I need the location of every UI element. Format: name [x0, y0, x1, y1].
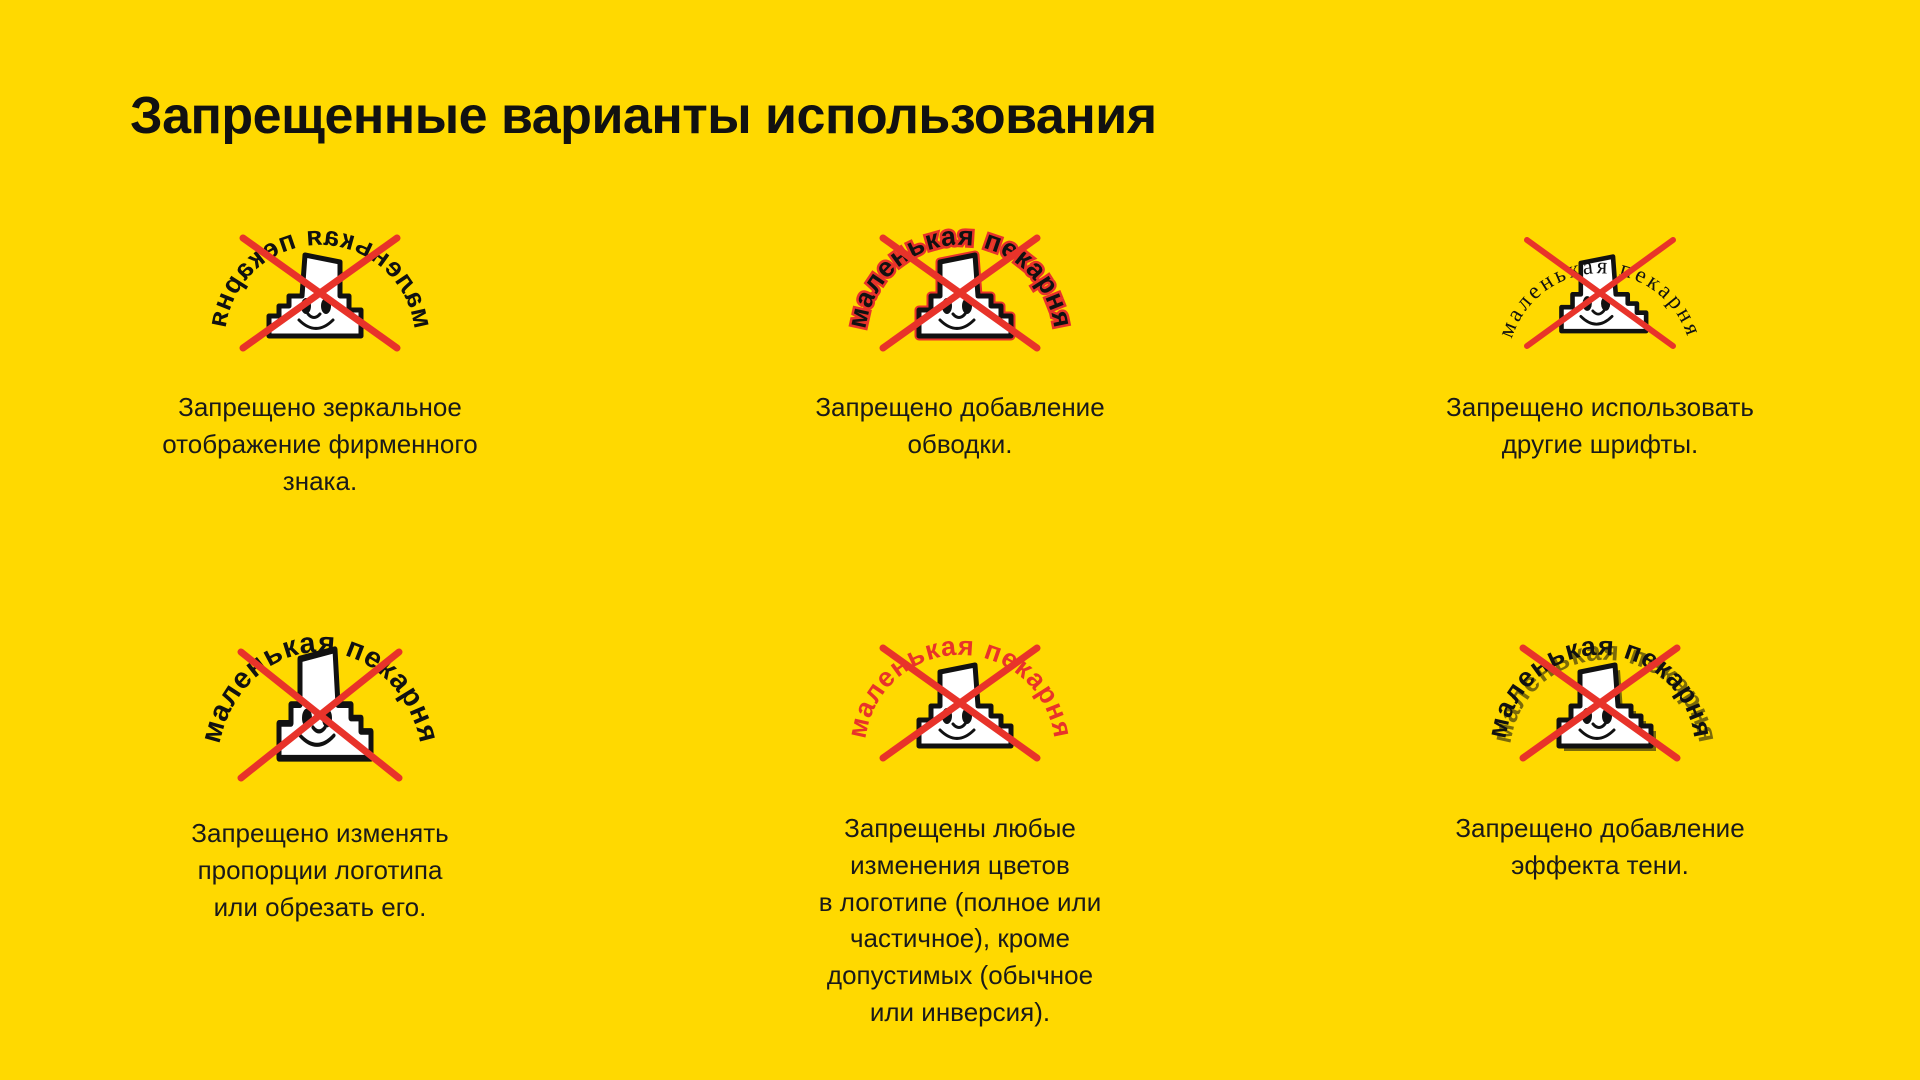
example-colors: маленькая пекарня Запрещены любые измене… [640, 610, 1280, 1031]
logo-artwork: маленькая пекарня [195, 610, 445, 805]
logo-artwork: маленькая пекарня [1475, 200, 1725, 375]
logo-artwork: маленькая пекарня маленькая пекарня [1475, 610, 1725, 785]
grid-row-2: маленькая пекарня Запрещено изменять про… [0, 610, 1920, 1031]
logo-artwork: маленькая пекарня [195, 200, 445, 375]
example-caption: Запрещено использовать другие шрифты. [1446, 389, 1754, 463]
example-shadow: маленькая пекарня маленькая пекарня [1280, 610, 1920, 1031]
logo-serif-font: маленькая пекарня [1475, 200, 1725, 375]
example-caption: Запрещено зеркальное отображение фирменн… [162, 389, 477, 500]
logo-artwork: маленькая пекарня [835, 200, 1085, 375]
logo-mirrored: маленькая пекарня [195, 200, 445, 375]
grid-row-1: маленькая пекарня Запрещено зеркальное о… [0, 200, 1920, 500]
example-caption: Запрещены любые изменения цветов в логот… [819, 810, 1101, 1031]
example-outline: маленькая пекарня Запрещено добавление о… [640, 200, 1280, 500]
logo-stretched: маленькая пекарня [195, 610, 445, 805]
example-proportions: маленькая пекарня Запрещено изменять про… [0, 610, 640, 1031]
logo-outline: маленькая пекарня [835, 200, 1085, 375]
page-title: Запрещенные варианты использования [130, 86, 1157, 146]
example-caption: Запрещено изменять пропорции логотипа ил… [191, 815, 448, 926]
example-mirrored: маленькая пекарня Запрещено зеркальное о… [0, 200, 640, 500]
example-other-fonts: маленькая пекарня Запрещено использовать… [1280, 200, 1920, 500]
logo-shadow: маленькая пекарня маленькая пекарня [1475, 610, 1725, 800]
logo-recolored: маленькая пекарня [835, 610, 1085, 800]
logo-artwork: маленькая пекарня [835, 610, 1085, 785]
slide-root: Запрещенные варианты использования [0, 0, 1920, 1080]
example-caption: Запрещено добавление эффекта тени. [1455, 810, 1744, 884]
prohibited-usage-grid: маленькая пекарня Запрещено зеркальное о… [0, 200, 1920, 1031]
example-caption: Запрещено добавление обводки. [815, 389, 1104, 463]
